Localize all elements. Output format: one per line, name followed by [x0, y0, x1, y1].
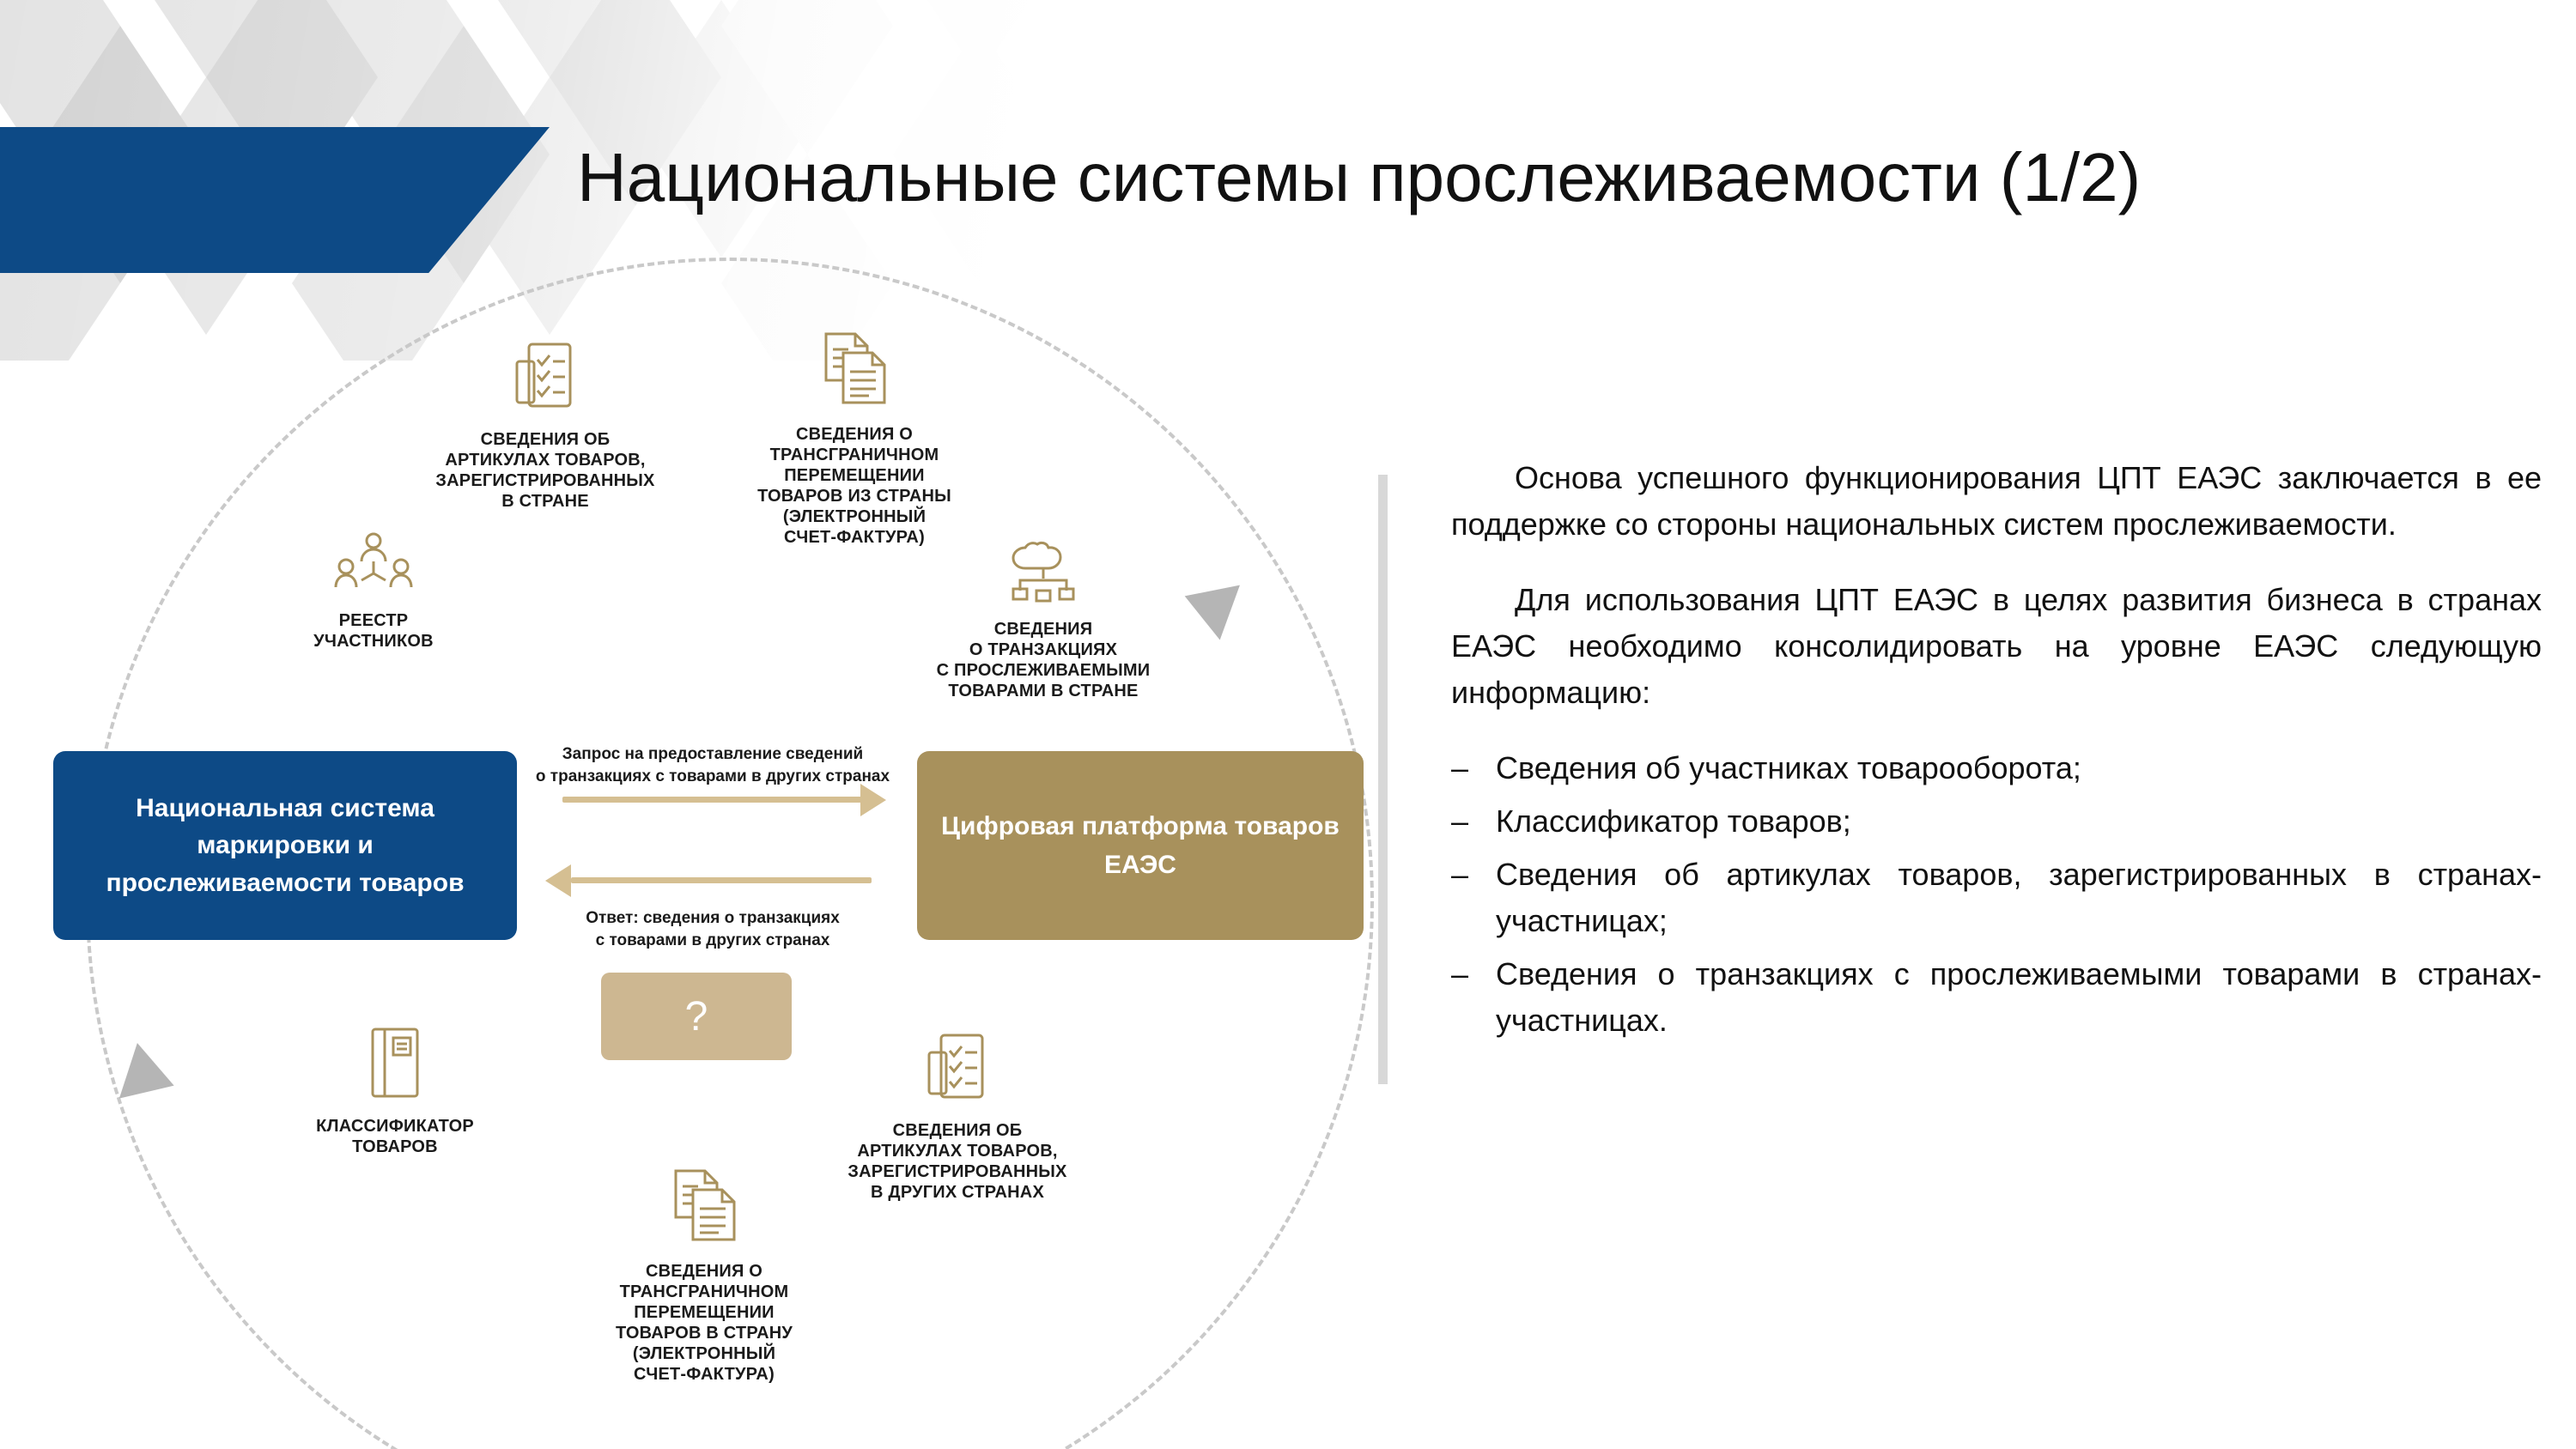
- list-item: – Сведения о транзакциях с прослеживаемы…: [1451, 951, 2542, 1044]
- list-item-label: Сведения об участниках товарооборота;: [1496, 750, 2081, 785]
- node-caption: СВЕДЕНИЯ О ТРАНЗАКЦИЯХ С ПРОСЛЕЖИВАЕМЫМИ…: [937, 620, 1151, 700]
- node-transactions-in-country: СВЕДЕНИЯ О ТРАНЗАКЦИЯХ С ПРОСЛЕЖИВАЕМЫМИ…: [859, 541, 1228, 701]
- node-caption: СВЕДЕНИЯ ОБ АРТИКУЛАХ ТОВАРОВ, ЗАРЕГИСТР…: [848, 1121, 1066, 1202]
- text-panel: Основа успешного функционирования ЦПТ ЕА…: [1451, 455, 2542, 1051]
- bullet-dash-icon: –: [1451, 798, 1468, 845]
- list-item: – Классификатор товаров;: [1451, 798, 2542, 845]
- page-title: Национальные системы прослеживаемости (1…: [577, 140, 2561, 215]
- book-icon: [249, 1026, 541, 1104]
- banner-top-edge: [0, 124, 550, 127]
- bullet-dash-icon: –: [1451, 745, 1468, 791]
- list-item-label: Классификатор товаров;: [1496, 803, 1851, 839]
- list-item-label: Сведения о транзакциях с прослеживаемыми…: [1496, 956, 2542, 1038]
- checklist-clipboard-icon: [378, 339, 713, 417]
- arrow-label-response: Ответ: сведения о транзакциях с товарами…: [532, 907, 893, 951]
- bullet-dash-icon: –: [1451, 951, 1468, 997]
- node-caption: РЕЕСТР УЧАСТНИКОВ: [313, 611, 434, 651]
- checklist-clipboard-icon: [773, 1030, 1142, 1108]
- list-item-label: Сведения об артикулах товаров, зарегистр…: [1496, 857, 2542, 938]
- node-cross-border-movement-out: СВЕДЕНИЯ О ТРАНСГРАНИЧНОМ ПЕРЕМЕЩЕНИИ ТО…: [687, 330, 1022, 548]
- documents-icon: [687, 330, 1022, 412]
- arrow-left-head-icon: [545, 864, 571, 897]
- arrow-right-head-icon: [860, 784, 886, 816]
- node-articles-registered-own-country: СВЕДЕНИЯ ОБ АРТИКУЛАХ ТОВАРОВ, ЗАРЕГИСТР…: [378, 339, 713, 512]
- bullet-dash-icon: –: [1451, 852, 1468, 898]
- box-national-marking-system: Национальная система маркировки и просле…: [53, 751, 517, 940]
- paragraph-2: Для использования ЦПТ ЕАЭС в целях разви…: [1451, 577, 2542, 716]
- list-item: – Сведения об участниках товарооборота;: [1451, 745, 2542, 791]
- node-caption: СВЕДЕНИЯ ОБ АРТИКУЛАХ ТОВАРОВ, ЗАРЕГИСТР…: [435, 430, 654, 511]
- slide-root: 03. Национальные системы прослеживаемост…: [0, 0, 2576, 1449]
- node-goods-classifier: КЛАССИФИКАТОР ТОВАРОВ: [249, 1026, 541, 1157]
- list-item: – Сведения об артикулах товаров, зарегис…: [1451, 852, 2542, 944]
- paragraph-1: Основа успешного функционирования ЦПТ ЕА…: [1451, 455, 2542, 548]
- section-number-banner: [0, 127, 550, 273]
- node-caption: СВЕДЕНИЯ О ТРАНСГРАНИЧНОМ ПЕРЕМЕЩЕНИИ ТО…: [616, 1262, 793, 1384]
- node-cross-border-movement-in: СВЕДЕНИЯ О ТРАНСГРАНИЧНОМ ПЕРЕМЕЩЕНИИ ТО…: [532, 1167, 876, 1385]
- box-digital-platform-eaeu: Цифровая платформа товаров ЕАЭС: [917, 751, 1364, 940]
- vertical-divider: [1378, 475, 1388, 1084]
- node-caption: СВЕДЕНИЯ О ТРАНСГРАНИЧНОМ ПЕРЕМЕЩЕНИИ ТО…: [757, 425, 951, 547]
- people-group-icon: [232, 532, 515, 598]
- box-question-placeholder: ?: [601, 973, 792, 1060]
- arrow-label-request: Запрос на предоставление сведений о тран…: [532, 743, 893, 787]
- node-caption: КЛАССИФИКАТОР ТОВАРОВ: [316, 1117, 474, 1156]
- arrow-request-line: [562, 797, 863, 803]
- documents-icon: [532, 1167, 876, 1249]
- cloud-network-icon: [859, 541, 1228, 607]
- node-participants-registry: РЕЕСТР УЧАСТНИКОВ: [232, 532, 515, 652]
- arrow-response-line: [571, 877, 872, 883]
- requirements-list: – Сведения об участниках товарооборота; …: [1451, 745, 2542, 1044]
